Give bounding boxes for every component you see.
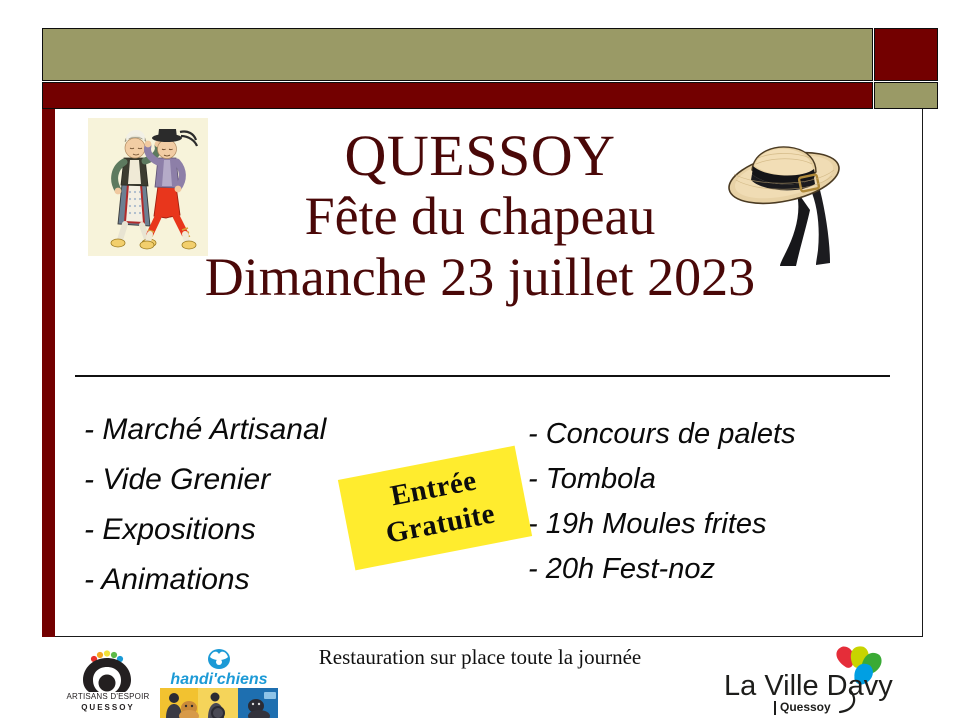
logo-handi-chiens-name: handi'chiens [160,671,278,689]
logo-artisans-line2: QUESSOY [62,703,154,712]
logo-handi-chiens: handi'chiens [160,648,278,718]
poster-slide: QUESSOY Fête du chapeau Dimanche 23 juil… [0,0,960,720]
list-item: - 19h Moules frites [528,502,898,547]
title-event: Fête du chapeau [130,189,830,244]
divider [75,375,890,377]
title-town: QUESSOY [130,126,830,185]
logo-davy-name: La Ville Davy [724,670,874,703]
list-item: - Concours de palets [528,412,898,457]
activities-right-column: - Concours de palets - Tombola - 19h Mou… [528,412,898,592]
logo-davy-town: Quessoy [780,700,831,714]
header-red-square [874,28,938,81]
panel-left-accent-bar [42,109,55,637]
list-item: - 20h Fest-noz [528,547,898,592]
header-olive-square [874,82,938,109]
footer-caption: Restauration sur place toute la journée [280,645,680,670]
page-title: QUESSOY Fête du chapeau Dimanche 23 juil… [130,126,830,305]
list-item: - Marché Artisanal [84,405,414,455]
header-olive-band [42,28,873,81]
title-date: Dimanche 23 juillet 2023 [130,250,830,305]
list-item: - Tombola [528,457,898,502]
header-red-band [42,82,873,109]
logo-artisans-line1: ARTISANS D'ESPOIR [62,692,154,701]
logo-davy-separator [774,701,776,715]
logo-la-ville-davy: La Ville Davy Quessoy [724,644,894,718]
logo-artisans-despoir: ARTISANS D'ESPOIR QUESSOY [62,650,154,716]
